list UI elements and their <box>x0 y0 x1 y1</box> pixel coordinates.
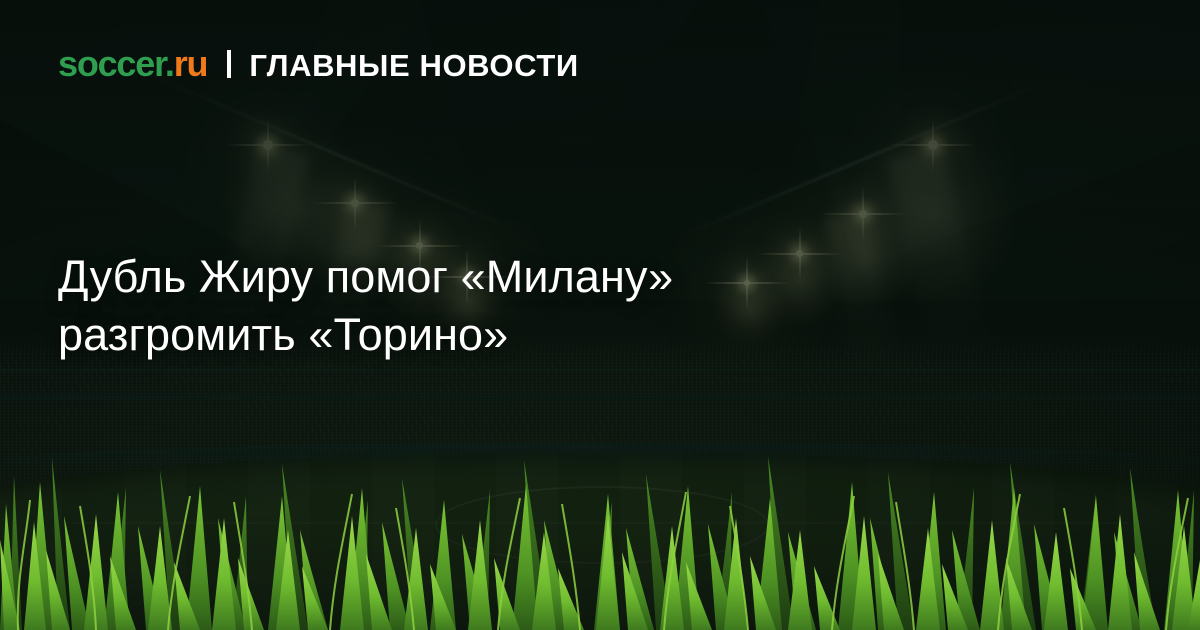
logo-text-dot: . <box>165 43 174 84</box>
headline-line-1: Дубль Жиру помог «Милану» <box>58 248 958 306</box>
header-kicker: ГЛАВНЫЕ НОВОСТИ <box>249 50 578 81</box>
logo-text-soccer: soccer <box>58 43 165 84</box>
page-title: Дубль Жиру помог «Милану» разгромить «То… <box>58 248 958 364</box>
card-header: soccer.ru ГЛАВНЫЕ НОВОСТИ <box>58 46 579 82</box>
logo-text-ru: ru <box>174 43 208 84</box>
site-logo[interactable]: soccer.ru <box>58 46 207 82</box>
grass-foreground <box>0 430 1200 630</box>
social-share-card: soccer.ru ГЛАВНЫЕ НОВОСТИ Дубль Жиру пом… <box>0 0 1200 630</box>
headline-line-2: разгромить «Торино» <box>58 306 958 364</box>
header-divider <box>227 50 231 78</box>
